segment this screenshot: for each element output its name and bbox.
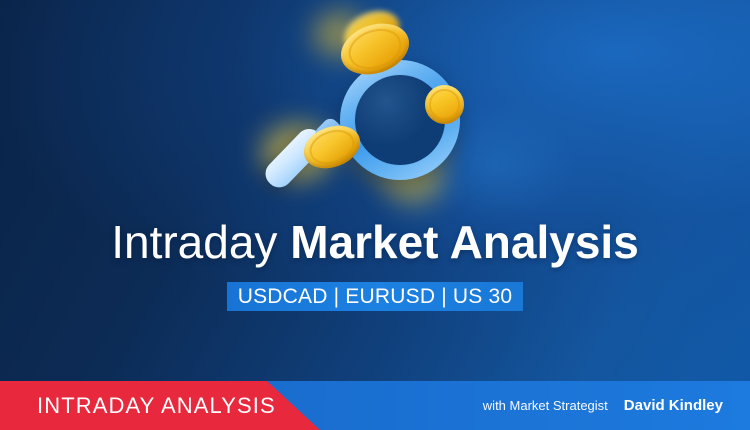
instrument-pairs-badge: USDCAD | EURUSD | US 30 — [227, 282, 523, 311]
title-bold-part: Market Analysis — [290, 216, 639, 268]
credit-prefix: with Market Strategist — [483, 398, 608, 413]
magnifier-coins-illustration — [255, 5, 505, 210]
bottom-bar: INTRADAY ANALYSIS with Market Strategist… — [0, 381, 750, 430]
bottom-bar-label: INTRADAY ANALYSIS — [37, 394, 276, 418]
gold-coin-icon — [425, 85, 464, 124]
analyst-credit: with Market Strategist David Kindley — [483, 397, 723, 414]
title-light-part: Intraday — [111, 216, 290, 268]
intraday-analysis-banner: Intraday Market Analysis USDCAD | EURUSD… — [0, 0, 750, 430]
page-title: Intraday Market Analysis — [0, 216, 750, 268]
analyst-name: David Kindley — [624, 397, 723, 414]
